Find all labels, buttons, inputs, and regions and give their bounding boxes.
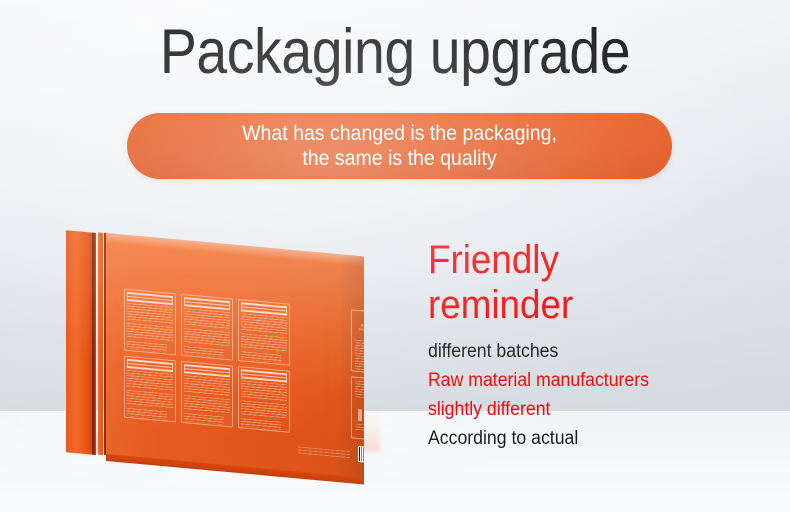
slogan-line-2: the same is the quality [302,146,496,171]
label-panel-text [241,313,287,334]
label-panel-text [241,380,287,401]
label-panel-text [184,395,230,414]
label-panel [124,289,176,356]
reminder-list-item: slightly different [428,395,707,424]
label-panel-text [184,328,230,347]
page-title: Packaging upgrade [47,16,742,88]
box-contents-panel [351,376,364,443]
label-panel-text [127,390,173,409]
reminder-list-item: Raw material manufacturers [428,366,707,395]
label-panel-text [241,418,281,430]
friendly-reminder-block: Friendly reminder different batches Raw … [428,238,728,453]
reminder-list: different batches Raw material manufactu… [428,337,728,453]
slogan-line-1: What has changed is the packaging, [242,121,557,146]
box-label-panel-grid [124,289,346,443]
slogan-banner-text: What has changed is the packaging, the s… [146,113,653,179]
box-brand-panel: SADOER S BEAUTY VITAMIN C BRIGHTENING MO… [351,309,364,376]
label-panel-text [127,370,173,391]
label-panel-text [241,351,281,363]
label-panel [238,366,290,433]
label-panel-text [241,400,287,419]
label-panel-text [184,413,224,425]
contents-panel-footnote [355,424,364,436]
label-panel [181,294,233,361]
reminder-list-item: According to actual [428,424,707,453]
brand-subtitle-secondary: BRIGHTENING MOISTURIZING SKIN CARE [355,328,364,341]
product-box-image: SADOER S BEAUTY VITAMIN C BRIGHTENING MO… [52,220,392,490]
promo-banner-image: Packaging upgrade What has changed is th… [0,0,790,512]
contents-bottle-icons [355,403,364,426]
label-panel-text [127,341,167,353]
panel-row [124,356,346,438]
label-panel-text [127,408,167,420]
reminder-title-line-1: Friendly [428,238,704,283]
label-panel [124,356,176,423]
box-top-highlight [106,233,364,266]
label-panel-text [184,375,230,396]
slogan-banner: What has changed is the packaging, the s… [127,113,672,179]
reminder-title-line-2: reminder [428,283,704,328]
label-panel [238,299,290,366]
label-panel-text [241,333,287,352]
label-panel-text [127,323,173,342]
label-panel [181,361,233,428]
brand-panel-text [355,340,364,375]
label-panel-text [127,303,173,324]
box-spine-seam-dark [92,233,96,455]
label-panel-text [184,346,224,358]
bottle-icon [358,409,362,421]
box-back-face: SADOER S BEAUTY VITAMIN C BRIGHTENING MO… [106,233,364,478]
reminder-list-item: different batches [428,337,707,366]
box-spine-seam-light [98,233,103,455]
contents-panel-text [355,381,364,404]
label-panel-text [184,308,230,329]
